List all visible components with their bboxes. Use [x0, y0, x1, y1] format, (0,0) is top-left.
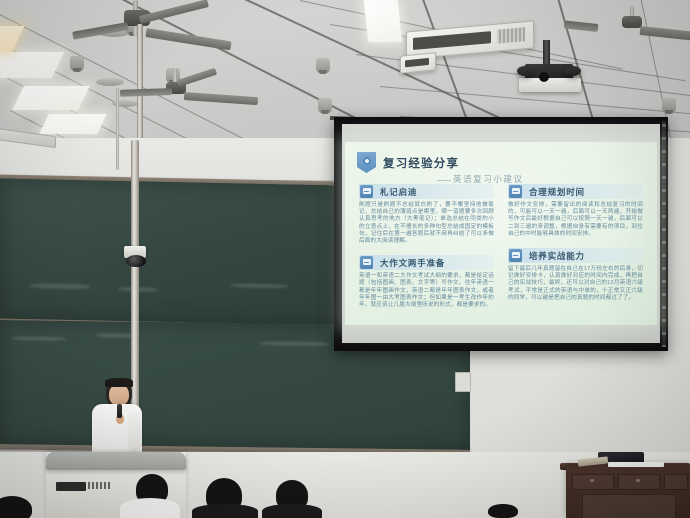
presenter-headband — [105, 378, 133, 387]
chart-growth-icon — [509, 249, 522, 262]
classroom-scene: 复习经验分享 英语复习小建议 札记启迪 刷题只是刷题不总结就白刷了，要不懈坚持地… — [0, 0, 690, 518]
fluorescent-light-panel — [0, 26, 24, 52]
sprinkler-head — [316, 58, 330, 74]
subtitle-dash — [437, 180, 451, 181]
presenter-arm — [128, 410, 141, 452]
sprinkler-head — [318, 98, 332, 114]
slide-card: 札记启迪 刷题只是刷题不总结就白刷了，要不懈坚持地做笔记，总结自己的薄弱点是哪里… — [359, 184, 494, 245]
blackboard-upper — [0, 178, 340, 325]
fluorescent-light-panel — [12, 86, 90, 110]
thin-support-rod — [116, 88, 119, 170]
presentation-slide: 复习经验分享 英语复习小建议 札记启迪 刷题只是刷题不总结就白刷了，要不懈坚持地… — [345, 142, 657, 325]
calendar-plan-icon — [509, 185, 522, 198]
card-body: 英语一和英语二大作文考试大纲的要求，都是给定话题（包括图画、图表、文字等）写作文… — [359, 273, 494, 309]
sprinkler-head — [662, 98, 676, 114]
fan-support-pole — [137, 24, 143, 140]
slide-title: 复习经验分享 — [383, 155, 459, 171]
card-title: 札记启迪 — [380, 186, 417, 198]
fluorescent-light-panel — [39, 114, 107, 134]
card-body: 留下最后几年真题留在自己在17万份左右的后身，切记做好安排卡，认真做好对应的时间… — [508, 266, 643, 302]
card-title: 合理规划时间 — [529, 186, 585, 198]
podium-label-strip — [88, 482, 110, 489]
air-conditioner-unit — [400, 52, 436, 74]
slide-card: 培养实战能力 留下最后几年真题留在自己在17万份左右的后身，切记做好安排卡，认真… — [508, 248, 643, 302]
cabinet-equipment-strip — [608, 462, 664, 467]
audience-shoulders — [120, 498, 180, 518]
card-title: 培养实战能力 — [529, 250, 585, 262]
card-body: 做好作文安排，需要留出的阅读和总结复习的时间的，可能可以一天一遍，后面可以一天两… — [508, 202, 643, 238]
equipment-cabinet[interactable] — [566, 466, 690, 518]
presenter-face — [109, 384, 129, 406]
slide-column-right: 合理规划时间 做好作文安排，需要留出的阅读和总结复习的时间的，可能可以一天一遍，… — [508, 184, 643, 312]
microphone — [117, 404, 122, 418]
ceiling-speaker — [96, 78, 124, 86]
audience-shoulders — [262, 504, 322, 518]
card-body: 刷题只是刷题不总结就白刷了，要不懈坚持地做笔记，总结自己的薄弱点是哪里，哪一道题… — [359, 202, 494, 245]
screen-mount-dots — [662, 121, 666, 347]
fluorescent-light-panel — [364, 0, 402, 42]
card-title: 大作文两手准备 — [380, 257, 445, 269]
podium-control-panel[interactable] — [56, 482, 86, 491]
hexagon-gear-icon — [357, 152, 376, 173]
sprinkler-head — [70, 56, 84, 72]
audience-head — [488, 504, 518, 518]
podium-surface — [46, 452, 186, 470]
audience-shoulders — [192, 504, 258, 518]
student-presenter — [88, 378, 158, 460]
pencil-note-icon — [360, 185, 373, 198]
slide-card: 合理规划时间 做好作文安排，需要留出的阅读和总结复习的时间的，可能可以一天一遍，… — [508, 184, 643, 238]
slide-column-left: 札记启迪 刷题只是刷题不总结就白刷了，要不懈坚持地做笔记，总结自己的薄弱点是哪里… — [359, 184, 494, 319]
camera-dome-icon — [126, 255, 146, 267]
pencil-note-icon — [360, 256, 373, 269]
wall-outlet-plate — [455, 372, 471, 392]
slide-card: 大作文两手准备 英语一和英语二大作文考试大纲的要求，都是给定话题（包括图画、图表… — [359, 255, 494, 309]
fluorescent-light-panel — [0, 52, 64, 78]
